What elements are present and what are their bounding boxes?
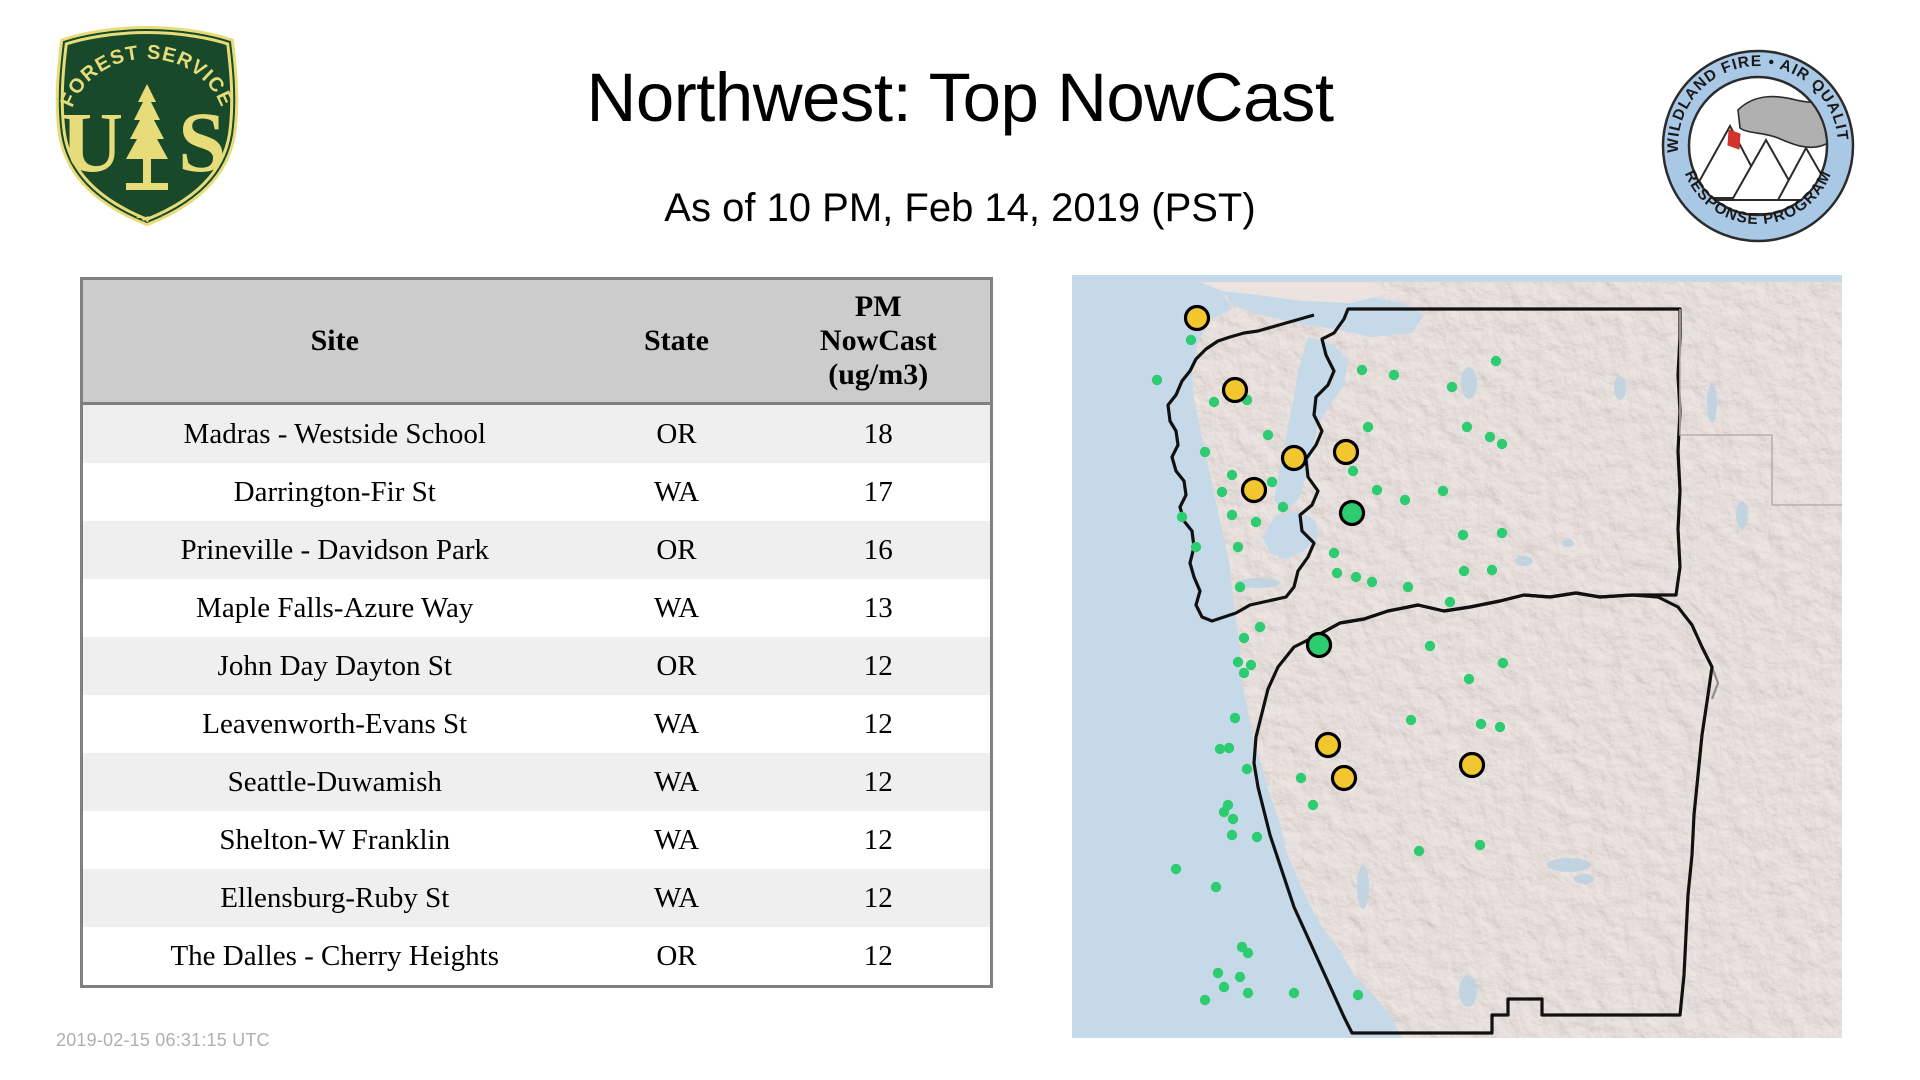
monitor-marker-small[interactable]	[1233, 542, 1243, 552]
column-header-pm-line3: (ug/m3)	[771, 358, 987, 392]
monitor-marker-small[interactable]	[1353, 990, 1363, 1000]
state-cell: WA	[587, 463, 767, 521]
monitor-marker-highlighted-good[interactable]	[1341, 502, 1364, 525]
monitor-marker-small[interactable]	[1464, 674, 1474, 684]
pm-nowcast-cell: 12	[767, 869, 992, 927]
page-subtitle: As of 10 PM, Feb 14, 2019 (PST)	[0, 185, 1920, 231]
monitor-marker-small[interactable]	[1308, 800, 1318, 810]
monitor-marker-small[interactable]	[1233, 657, 1243, 667]
monitor-marker-small[interactable]	[1200, 447, 1210, 457]
state-cell: WA	[587, 869, 767, 927]
monitor-marker-small[interactable]	[1447, 382, 1457, 392]
site-cell: Ellensburg-Ruby St	[82, 869, 587, 927]
site-cell: John Day Dayton St	[82, 637, 587, 695]
monitor-marker-small[interactable]	[1400, 495, 1410, 505]
pm-nowcast-cell: 16	[767, 521, 992, 579]
monitor-marker-small[interactable]	[1217, 487, 1227, 497]
table-row[interactable]: Madras - Westside SchoolOR18	[82, 404, 992, 464]
table-row[interactable]: Seattle-DuwamishWA12	[82, 753, 992, 811]
monitor-marker-highlighted-moderate[interactable]	[1333, 767, 1356, 790]
monitor-marker-small[interactable]	[1219, 807, 1229, 817]
monitor-marker-small[interactable]	[1152, 375, 1162, 385]
monitor-marker-small[interactable]	[1211, 882, 1221, 892]
monitor-marker-small[interactable]	[1171, 864, 1181, 874]
pm-nowcast-cell: 12	[767, 811, 992, 869]
monitor-marker-highlighted-moderate[interactable]	[1186, 307, 1209, 330]
monitor-marker-small[interactable]	[1372, 485, 1382, 495]
site-cell: Prineville - Davidson Park	[82, 521, 587, 579]
state-cell: WA	[587, 695, 767, 753]
monitor-marker-small[interactable]	[1425, 641, 1435, 651]
monitor-marker-highlighted-moderate[interactable]	[1243, 479, 1266, 502]
state-cell: OR	[587, 521, 767, 579]
monitor-marker-small[interactable]	[1263, 430, 1273, 440]
monitor-marker-small[interactable]	[1462, 422, 1472, 432]
pm-nowcast-cell: 17	[767, 463, 992, 521]
monitor-marker-small[interactable]	[1403, 582, 1413, 592]
nowcast-table: Site State PM NowCast (ug/m3) Madras - W…	[80, 277, 993, 988]
monitor-marker-small[interactable]	[1243, 948, 1253, 958]
pm-nowcast-cell: 13	[767, 579, 992, 637]
state-cell: OR	[587, 404, 767, 464]
table-row[interactable]: Darrington-Fir StWA17	[82, 463, 992, 521]
monitor-marker-small[interactable]	[1230, 713, 1240, 723]
state-cell: OR	[587, 927, 767, 987]
monitor-marker-small[interactable]	[1186, 335, 1196, 345]
monitor-marker-small[interactable]	[1251, 517, 1261, 527]
column-header-site[interactable]: Site	[82, 279, 587, 404]
monitor-marker-small[interactable]	[1289, 988, 1299, 998]
column-header-pm-line2: NowCast	[771, 324, 987, 358]
monitor-marker-small[interactable]	[1445, 597, 1455, 607]
monitor-marker-small[interactable]	[1495, 722, 1505, 732]
monitor-marker-small[interactable]	[1497, 528, 1507, 538]
site-cell: Madras - Westside School	[82, 404, 587, 464]
monitor-marker-small[interactable]	[1406, 715, 1416, 725]
monitor-marker-small[interactable]	[1235, 582, 1245, 592]
monitor-marker-small[interactable]	[1228, 814, 1238, 824]
monitor-marker-small[interactable]	[1458, 530, 1468, 540]
monitor-marker-small[interactable]	[1252, 832, 1262, 842]
site-cell: Seattle-Duwamish	[82, 753, 587, 811]
monitor-marker-highlighted-good[interactable]	[1308, 634, 1331, 657]
monitor-marker-highlighted-moderate[interactable]	[1283, 447, 1306, 470]
monitor-marker-small[interactable]	[1498, 658, 1508, 668]
monitor-marker-small[interactable]	[1255, 622, 1265, 632]
monitor-marker-small[interactable]	[1357, 365, 1367, 375]
monitor-marker-small[interactable]	[1209, 397, 1219, 407]
monitor-marker-small[interactable]	[1459, 566, 1469, 576]
monitor-marker-small[interactable]	[1487, 565, 1497, 575]
footer-timestamp: 2019-02-15 06:31:15 UTC	[56, 1030, 270, 1051]
wildland-fire-air-quality-program-logo: WILDLAND FIRE • AIR QUALITY RESPONSE PRO…	[1660, 48, 1856, 244]
pm-nowcast-cell: 18	[767, 404, 992, 464]
monitor-marker-small[interactable]	[1278, 502, 1288, 512]
monitor-marker-small[interactable]	[1224, 743, 1234, 753]
monitor-marker-small[interactable]	[1351, 572, 1361, 582]
monitor-marker-small[interactable]	[1246, 660, 1256, 670]
monitor-marker-small[interactable]	[1242, 764, 1252, 774]
pm-nowcast-cell: 12	[767, 927, 992, 987]
monitor-marker-small[interactable]	[1239, 633, 1249, 643]
monitor-marker-small[interactable]	[1485, 432, 1495, 442]
monitor-marker-small[interactable]	[1227, 470, 1237, 480]
column-header-pm-line1: PM	[771, 290, 987, 324]
site-cell: Darrington-Fir St	[82, 463, 587, 521]
table-row[interactable]: Ellensburg-Ruby StWA12	[82, 869, 992, 927]
pm-nowcast-cell: 12	[767, 695, 992, 753]
table-row[interactable]: John Day Dayton StOR12	[82, 637, 992, 695]
page-title: Northwest: Top NowCast	[0, 58, 1920, 138]
monitor-marker-small[interactable]	[1227, 510, 1237, 520]
monitor-marker-small[interactable]	[1497, 439, 1507, 449]
state-cell: WA	[587, 579, 767, 637]
monitor-marker-small[interactable]	[1491, 356, 1501, 366]
table-header-row: Site State PM NowCast (ug/m3)	[82, 279, 992, 404]
monitor-marker-small[interactable]	[1414, 846, 1424, 856]
table-row[interactable]: Leavenworth-Evans StWA12	[82, 695, 992, 753]
monitor-marker-small[interactable]	[1243, 988, 1253, 998]
monitor-marker-small[interactable]	[1367, 577, 1377, 587]
monitor-marker-highlighted-moderate[interactable]	[1335, 441, 1358, 464]
monitor-marker-small[interactable]	[1219, 982, 1229, 992]
monitor-marker-highlighted-moderate[interactable]	[1461, 754, 1484, 777]
site-cell: Leavenworth-Evans St	[82, 695, 587, 753]
site-cell: Maple Falls-Azure Way	[82, 579, 587, 637]
monitor-marker-small[interactable]	[1329, 548, 1339, 558]
monitor-marker-small[interactable]	[1235, 972, 1245, 982]
pm-nowcast-cell: 12	[767, 637, 992, 695]
state-cell: WA	[587, 753, 767, 811]
monitor-marker-small[interactable]	[1213, 968, 1223, 978]
monitor-marker-small[interactable]	[1296, 773, 1306, 783]
pm-nowcast-cell: 12	[767, 753, 992, 811]
monitor-marker-small[interactable]	[1389, 370, 1399, 380]
monitor-marker-small[interactable]	[1227, 830, 1237, 840]
site-cell: The Dalles - Cherry Heights	[82, 927, 587, 987]
state-cell: WA	[587, 811, 767, 869]
state-cell: OR	[587, 637, 767, 695]
pnw-monitor-map[interactable]	[1072, 275, 1842, 1038]
monitor-marker-small[interactable]	[1239, 668, 1249, 678]
table-row[interactable]: The Dalles - Cherry HeightsOR12	[82, 927, 992, 987]
monitor-marker-small[interactable]	[1438, 486, 1448, 496]
monitor-marker-small[interactable]	[1177, 512, 1187, 522]
monitor-marker-small[interactable]	[1267, 477, 1277, 487]
monitor-marker-small[interactable]	[1348, 466, 1358, 476]
table-row[interactable]: Shelton-W FranklinWA12	[82, 811, 992, 869]
monitor-marker-small[interactable]	[1476, 719, 1486, 729]
table-row[interactable]: Maple Falls-Azure WayWA13	[82, 579, 992, 637]
monitor-marker-small[interactable]	[1475, 840, 1485, 850]
monitor-marker-small[interactable]	[1191, 542, 1201, 552]
site-cell: Shelton-W Franklin	[82, 811, 587, 869]
column-header-state[interactable]: State	[587, 279, 767, 404]
column-header-pm-nowcast[interactable]: PM NowCast (ug/m3)	[767, 279, 992, 404]
monitor-marker-small[interactable]	[1363, 422, 1373, 432]
monitor-marker-small[interactable]	[1332, 568, 1342, 578]
table-row[interactable]: Prineville - Davidson ParkOR16	[82, 521, 992, 579]
monitor-marker-small[interactable]	[1200, 995, 1210, 1005]
monitor-marker-small[interactable]	[1215, 744, 1225, 754]
monitor-marker-highlighted-moderate[interactable]	[1317, 734, 1340, 757]
monitor-marker-highlighted-moderate[interactable]	[1224, 379, 1247, 402]
